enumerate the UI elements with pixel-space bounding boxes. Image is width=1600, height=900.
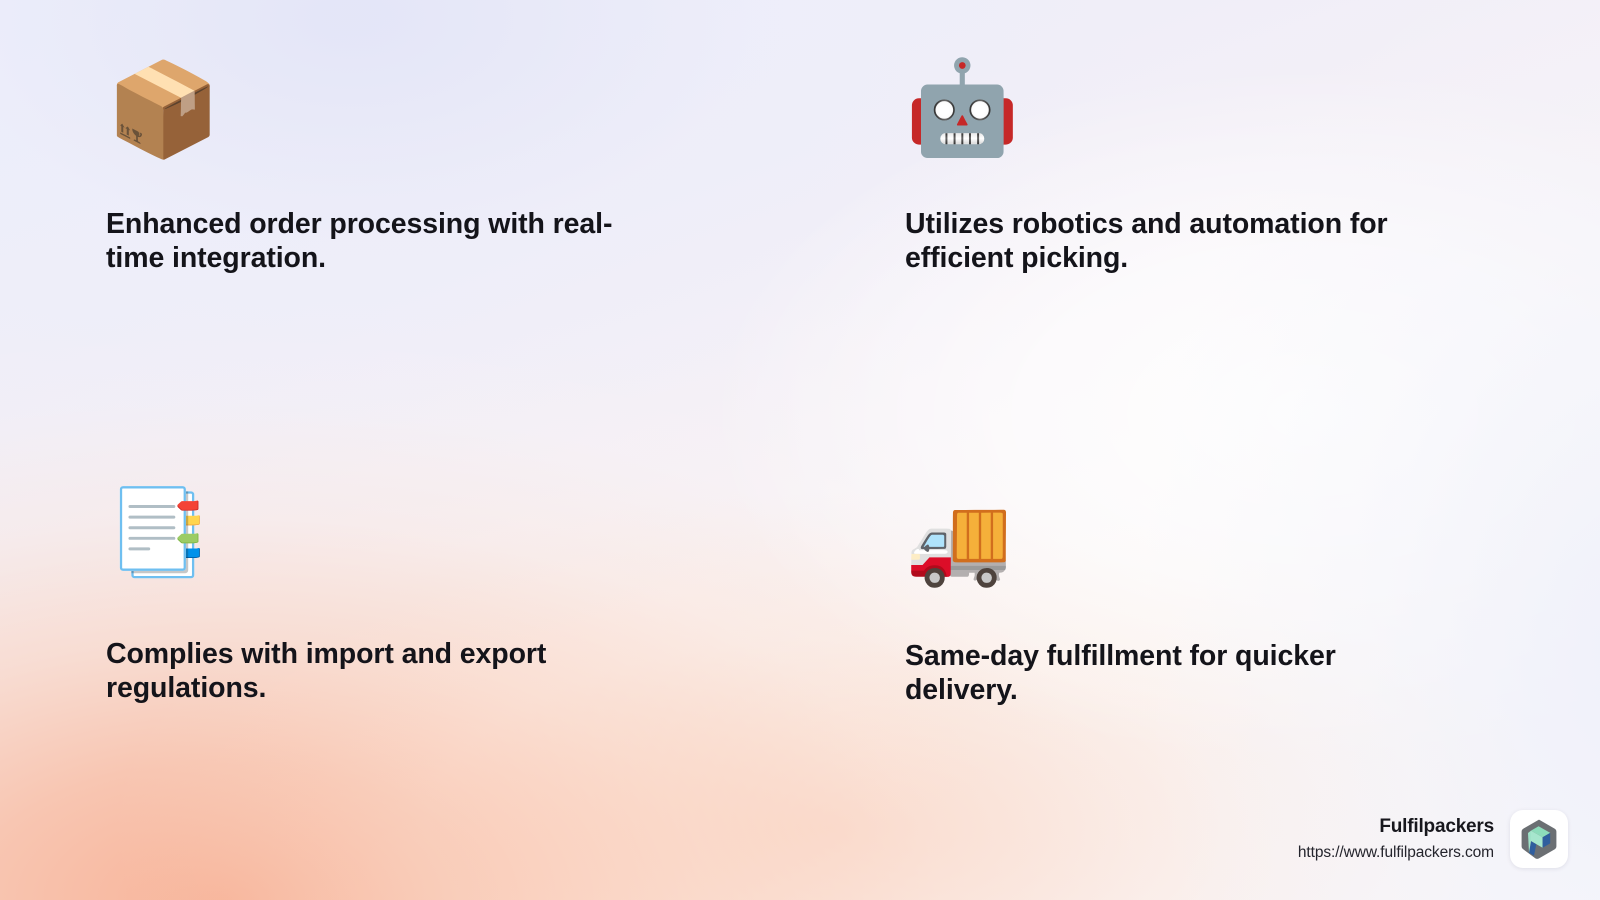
feature-grid: 📦 Enhanced order processing with real-ti…: [0, 0, 1600, 900]
feature-card-import-export-compliance: 📑 Complies with import and export regula…: [0, 420, 800, 840]
feature-text-order-processing: Enhanced order processing with real-time…: [106, 208, 636, 276]
brand-footer: Fulfilpackers https://www.fulfilpackers.…: [1298, 810, 1568, 868]
feature-card-robotics-automation: 🤖 Utilizes robotics and automation for e…: [800, 0, 1600, 420]
bookmark-tabs-document-icon: 📑: [106, 490, 800, 594]
brand-name: Fulfilpackers: [1298, 815, 1494, 839]
feature-card-order-processing: 📦 Enhanced order processing with real-ti…: [0, 0, 800, 420]
brand-url[interactable]: https://www.fulfilpackers.com: [1298, 843, 1494, 862]
feature-text-robotics-automation: Utilizes robotics and automation for eff…: [905, 208, 1435, 276]
feature-text-same-day-fulfillment: Same-day fulfillment for quicker deliver…: [905, 640, 1395, 708]
package-box-icon: 📦: [106, 64, 800, 168]
delivery-truck-icon: 🚚: [905, 498, 1600, 602]
brand-text-block: Fulfilpackers https://www.fulfilpackers.…: [1298, 815, 1494, 862]
fulfilpackers-cube-logo-icon: [1517, 817, 1561, 861]
brand-logo-plate[interactable]: [1510, 810, 1568, 868]
infographic-canvas: 📦 Enhanced order processing with real-ti…: [0, 0, 1600, 900]
robot-icon: 🤖: [905, 62, 1600, 166]
feature-text-import-export-compliance: Complies with import and export regulati…: [106, 638, 606, 706]
feature-card-same-day-fulfillment: 🚚 Same-day fulfillment for quicker deliv…: [800, 420, 1600, 840]
